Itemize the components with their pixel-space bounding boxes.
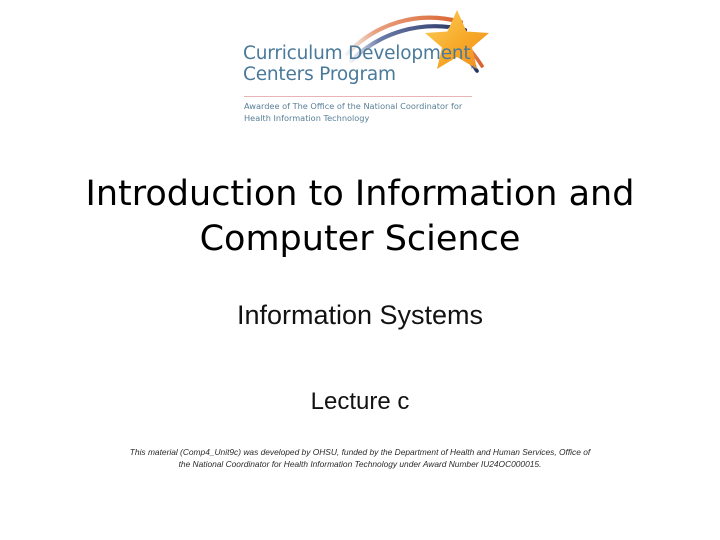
logo-wordmark-line2: Centers Program bbox=[243, 64, 483, 85]
logo-wordmark: Curriculum Development Centers Program bbox=[243, 43, 483, 85]
presentation-slide: Curriculum Development Centers Program A… bbox=[0, 0, 720, 540]
page-title-line2: Computer Science bbox=[40, 217, 680, 262]
logo-wordmark-line1: Curriculum Development bbox=[243, 43, 470, 64]
page-title-line1: Introduction to Information and bbox=[40, 172, 680, 217]
funding-disclaimer-line1: This material (Comp4_Unit9c) was develop… bbox=[130, 447, 590, 457]
logo-divider bbox=[244, 96, 472, 97]
funding-disclaimer: This material (Comp4_Unit9c) was develop… bbox=[78, 446, 642, 470]
page-title: Introduction to Information and Computer… bbox=[40, 172, 680, 262]
funding-disclaimer-line2: the National Coordinator for Health Info… bbox=[78, 458, 642, 470]
logo-awardee-line1: Awardee of The Office of the National Co… bbox=[244, 101, 462, 111]
logo-awardee-text: Awardee of The Office of the National Co… bbox=[244, 101, 476, 124]
logo-awardee-line2: Health Information Technology bbox=[244, 113, 476, 125]
curriculum-development-centers-logo: Curriculum Development Centers Program A… bbox=[240, 8, 490, 128]
lecture-label: Lecture c bbox=[40, 387, 680, 417]
trademark-mark: TM bbox=[470, 66, 477, 71]
unit-subtitle: Information Systems bbox=[40, 298, 680, 332]
